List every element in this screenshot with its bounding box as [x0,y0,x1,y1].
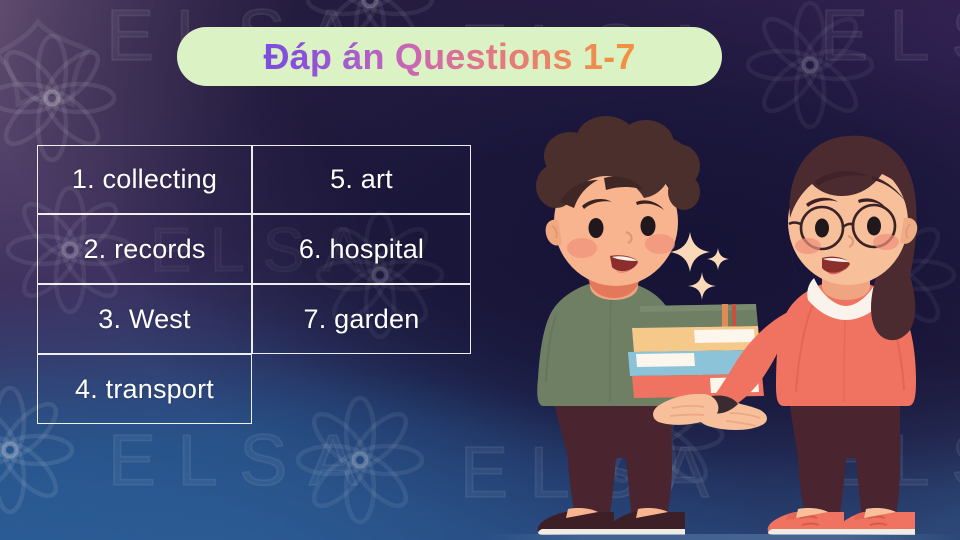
girl-eye-left [815,219,829,238]
table-cell-1: 1. collecting [37,145,252,214]
table-cell-2: 2. records [37,214,252,284]
girl-eye-right [867,217,881,236]
table-cell-3: 3. West [37,284,252,354]
table-cell-7: 7. garden [252,284,471,354]
boy-eye-right [641,216,656,236]
boy-cheek-right [645,234,675,254]
boy-eye-left [589,218,604,238]
slide-canvas: ELSA ELSA ELSA ELSA ELSA ELSA ELSA Đáp á… [0,0,960,540]
illustration-two-children-books [486,110,960,540]
table-cell-6: 6. hospital [252,214,471,284]
page-title: Đáp án Questions 1-7 [263,36,635,78]
sparkle-icons [670,232,729,300]
girl-cheek-left [795,238,821,254]
watermark-text: ELSA [820,0,960,77]
watermark-text: ELSA [108,420,379,502]
sparkle-icon-small [707,248,729,270]
girl-cheek-right [873,234,899,250]
boy-cheek-left [567,238,597,258]
sparkle-icon-medium [688,272,716,300]
table-cell-4: 4. transport [37,354,252,424]
ground-line [486,534,960,540]
book-green-bookmark [722,304,728,327]
title-pill: Đáp án Questions 1-7 [177,27,722,86]
table-cell-5: 5. art [252,145,471,214]
answers-table: 1. collecting 5. art 2. records 6. hospi… [37,145,471,424]
